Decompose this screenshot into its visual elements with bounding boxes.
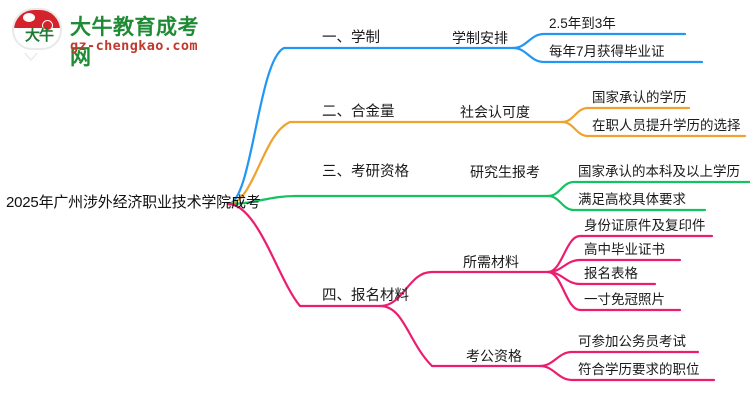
branch-2-leaf-1[interactable]: 国家承认的学历 (592, 91, 687, 105)
branch-3-sub-1-label[interactable]: 研究生报考 (470, 165, 540, 179)
branch-4-sub-2-leaf-2[interactable]: 符合学历要求的职位 (578, 363, 700, 377)
branch-4-sub-1-label[interactable]: 所需材料 (463, 255, 519, 269)
branch-1-sub-1-label[interactable]: 学制安排 (452, 31, 508, 45)
mindmap-canvas: 大牛 大牛教育成考网 gz-chengkao.com (0, 0, 750, 410)
branch-4-sub-1-leaf-4[interactable]: 一寸免冠照片 (584, 293, 665, 307)
branch-1-leaf-2[interactable]: 每年7月获得毕业证 (549, 45, 665, 59)
branch-2-leaf-2[interactable]: 在职人员提升学历的选择 (592, 119, 741, 133)
link-root-branch1 (228, 48, 494, 204)
branch-4-label[interactable]: 四、报名材料 (322, 289, 409, 304)
link-root-branch2 (228, 122, 494, 204)
branch-3-label[interactable]: 三、考研资格 (322, 165, 409, 180)
branch-2-label[interactable]: 二、合金量 (322, 105, 395, 120)
branch-1-label[interactable]: 一、学制 (322, 31, 380, 46)
branch-4-sub-2-label[interactable]: 考公资格 (466, 349, 522, 363)
branch-3-leaf-2[interactable]: 满足高校具体要求 (578, 193, 686, 207)
branch-4-sub-1-leaf-3[interactable]: 报名表格 (584, 267, 638, 281)
root-node-label[interactable]: 2025年广州涉外经济职业技术学院成考 (6, 195, 261, 210)
branch-3-leaf-1[interactable]: 国家承认的本科及以上学历 (578, 165, 740, 179)
branch-4-sub-1-leaf-2[interactable]: 高中毕业证书 (584, 243, 665, 257)
link-root-branch3 (228, 196, 500, 204)
branch-4-sub-2-leaf-1[interactable]: 可参加公务员考试 (578, 335, 686, 349)
branch-2-sub-1-label[interactable]: 社会认可度 (460, 105, 530, 119)
branch-1-leaf-1[interactable]: 2.5年到3年 (549, 17, 616, 31)
branch-4-sub-1-leaf-1[interactable]: 身份证原件及复印件 (584, 219, 706, 233)
